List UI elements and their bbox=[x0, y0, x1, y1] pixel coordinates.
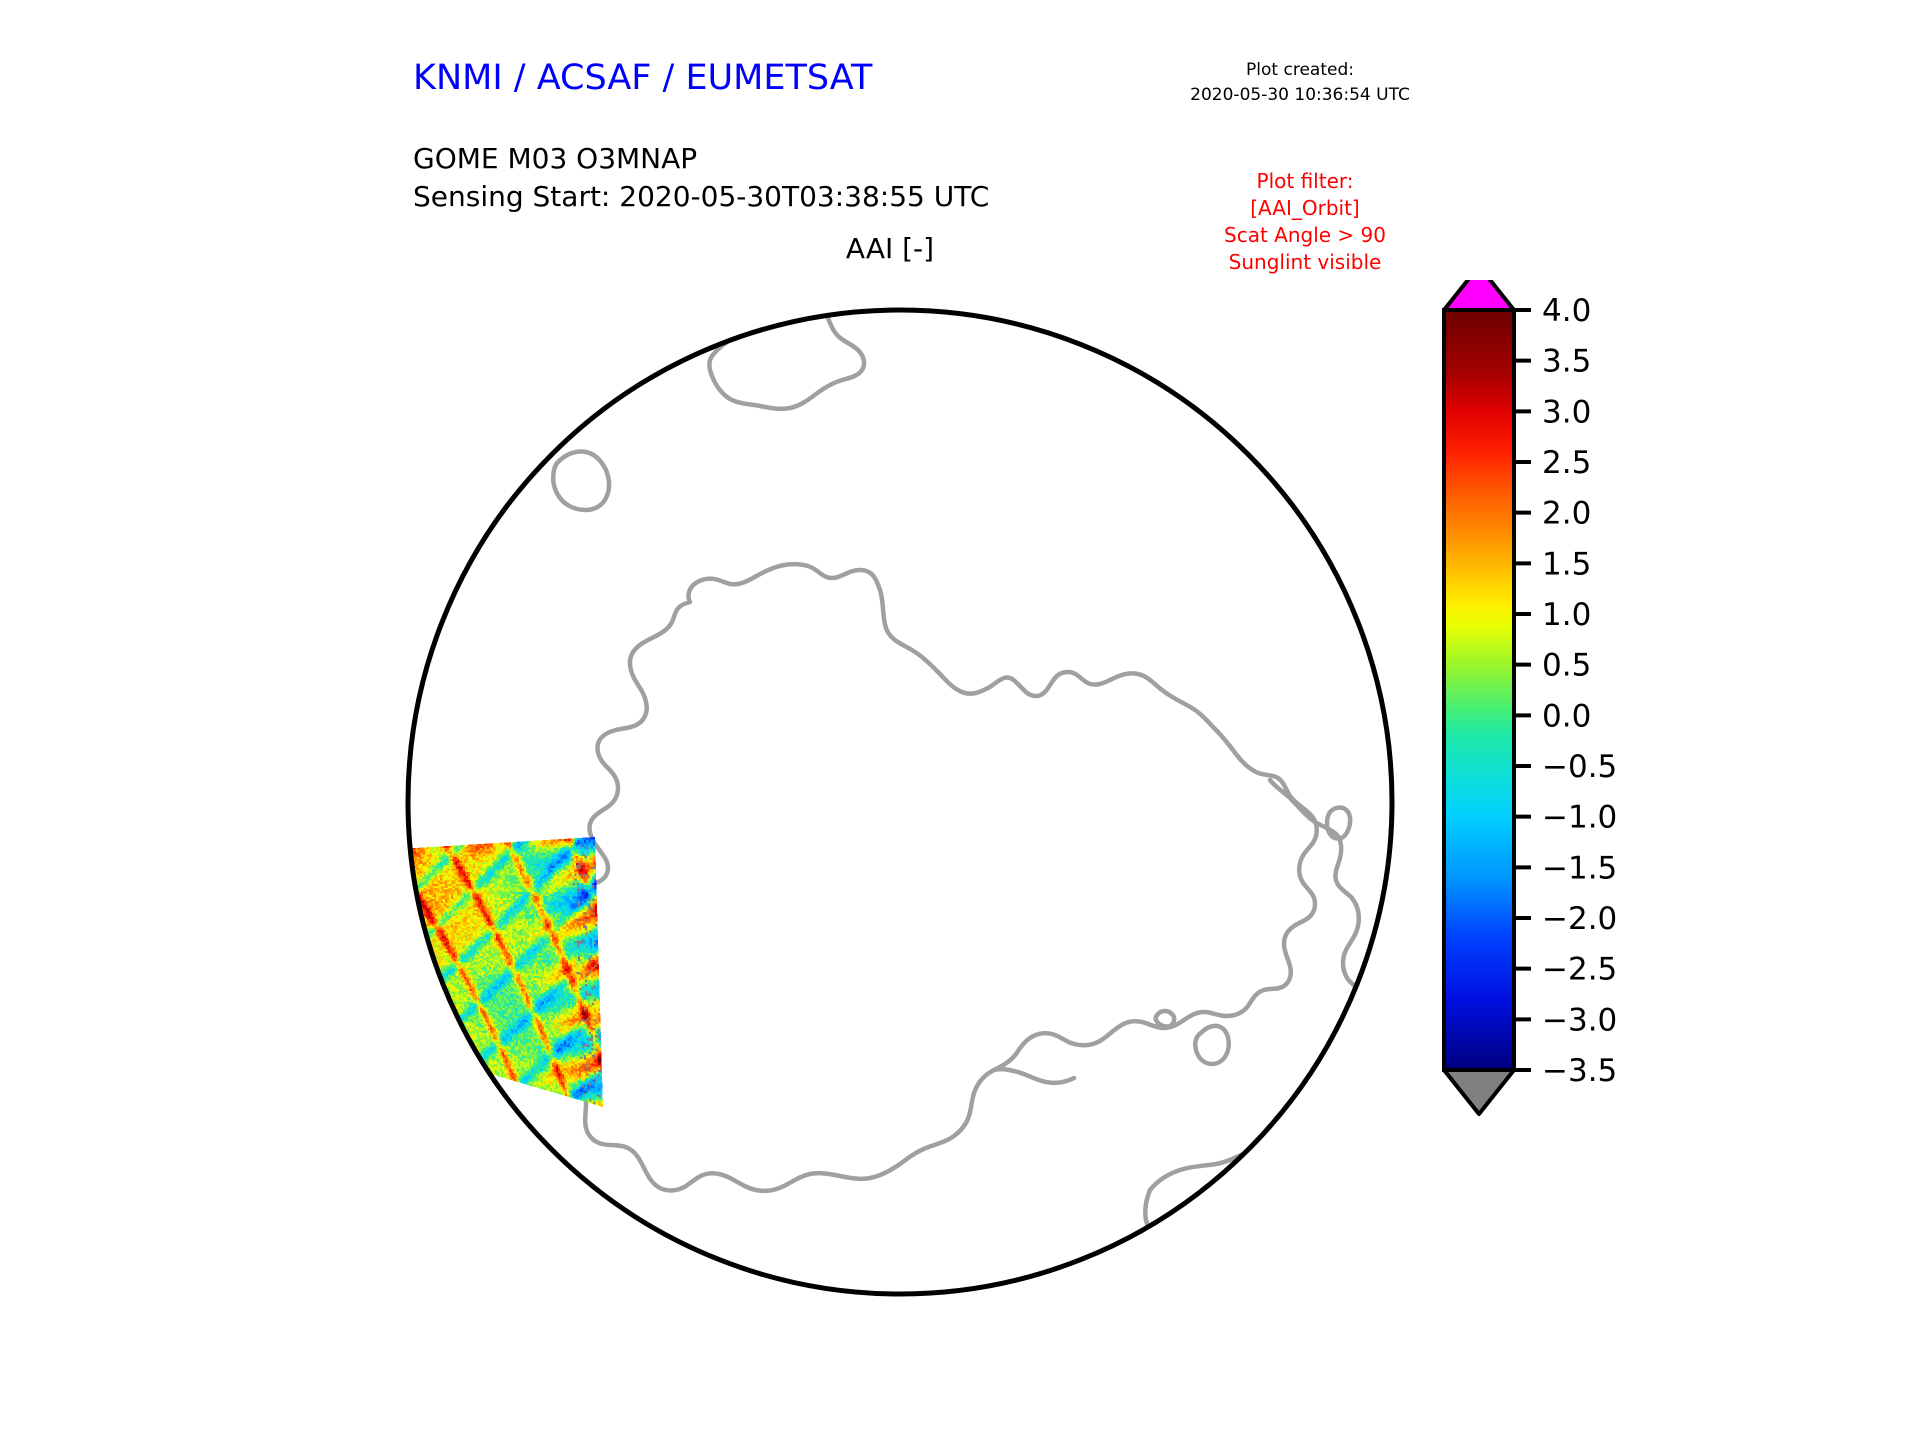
filter-line-1: Plot filter: bbox=[1160, 168, 1450, 195]
colorbar-tick-label: −2.0 bbox=[1542, 901, 1617, 937]
colorbar-tick-label: 1.5 bbox=[1542, 546, 1591, 582]
colorbar-tick-label: −1.0 bbox=[1542, 800, 1617, 836]
colorbar-tick-label: 3.0 bbox=[1542, 394, 1591, 430]
south-america-patagonia bbox=[1150, 1147, 1398, 1190]
map-boundary-circle bbox=[408, 310, 1392, 1294]
falkland-islands bbox=[1193, 1236, 1216, 1262]
coastlines bbox=[450, 272, 1410, 1330]
small-island-a bbox=[1156, 1011, 1175, 1027]
plot-created-block: Plot created: 2020-05-30 10:36:54 UTC bbox=[1155, 58, 1445, 108]
new-zealand-north-island bbox=[826, 272, 882, 312]
colorbar-tick-label: −0.5 bbox=[1542, 749, 1617, 785]
sensing-start: Sensing Start: 2020-05-30T03:38:55 UTC bbox=[413, 178, 989, 216]
plot-created-timestamp: 2020-05-30 10:36:54 UTC bbox=[1155, 83, 1445, 108]
colorbar-tick-label: 3.5 bbox=[1542, 344, 1591, 380]
colorbar-tick-label: −2.5 bbox=[1542, 952, 1617, 988]
tierra-del-fuego bbox=[1199, 1268, 1252, 1325]
aai-data-swath bbox=[390, 837, 603, 1107]
colorbar-tick-label: 1.0 bbox=[1542, 597, 1591, 633]
peninsula-tail bbox=[1343, 898, 1366, 992]
plot-created-label: Plot created: bbox=[1155, 58, 1445, 83]
plot-filter-block: Plot filter: [AAI_Orbit] Scat Angle > 90… bbox=[1160, 168, 1450, 276]
filter-line-2: [AAI_Orbit] bbox=[1160, 195, 1450, 222]
south-america-east-coast bbox=[1260, 1174, 1398, 1326]
colorbar-tick-label: −1.5 bbox=[1542, 850, 1617, 886]
alexander-island bbox=[1195, 1026, 1229, 1064]
colorbar-over-range-arrow bbox=[1444, 280, 1514, 310]
colorbar-tick-label: −3.5 bbox=[1542, 1053, 1617, 1089]
polar-map bbox=[390, 272, 1410, 1332]
product-name: GOME M03 O3MNAP bbox=[413, 140, 989, 178]
island-group-right bbox=[1392, 796, 1410, 801]
colorbar-tick-label: −3.0 bbox=[1542, 1002, 1617, 1038]
filter-line-3: Scat Angle > 90 bbox=[1160, 222, 1450, 249]
colorbar-tick-label: 2.0 bbox=[1542, 496, 1591, 532]
colorbar-ticks: 4.03.53.02.52.01.51.00.50.0−0.5−1.0−1.5−… bbox=[1514, 293, 1617, 1089]
ross-ice-shelf-line bbox=[994, 1069, 1074, 1083]
south-america-west-coast bbox=[1144, 1190, 1163, 1330]
australia-south-coast bbox=[450, 411, 526, 425]
colorbar-tick-label: 0.0 bbox=[1542, 698, 1591, 734]
institutes-title: KNMI / ACSAF / EUMETSAT bbox=[413, 58, 872, 98]
tasmania bbox=[553, 451, 609, 510]
product-info-block: GOME M03 O3MNAP Sensing Start: 2020-05-3… bbox=[413, 140, 989, 216]
colorbar-tick-label: 0.5 bbox=[1542, 648, 1591, 684]
colorbar-tick-label: 4.0 bbox=[1542, 293, 1591, 329]
colorbar-gradient-bar bbox=[1444, 310, 1514, 1070]
colorbar-under-range-arrow bbox=[1444, 1070, 1514, 1114]
antarctica-coastline bbox=[525, 564, 1316, 1191]
aai-orbit-figure: KNMI / ACSAF / EUMETSAT Plot created: 20… bbox=[0, 0, 1920, 1440]
colorbar-tick-label: 2.5 bbox=[1542, 445, 1591, 481]
colorbar: 4.03.53.02.52.01.51.00.50.0−0.5−1.0−1.5−… bbox=[1430, 280, 1690, 1330]
